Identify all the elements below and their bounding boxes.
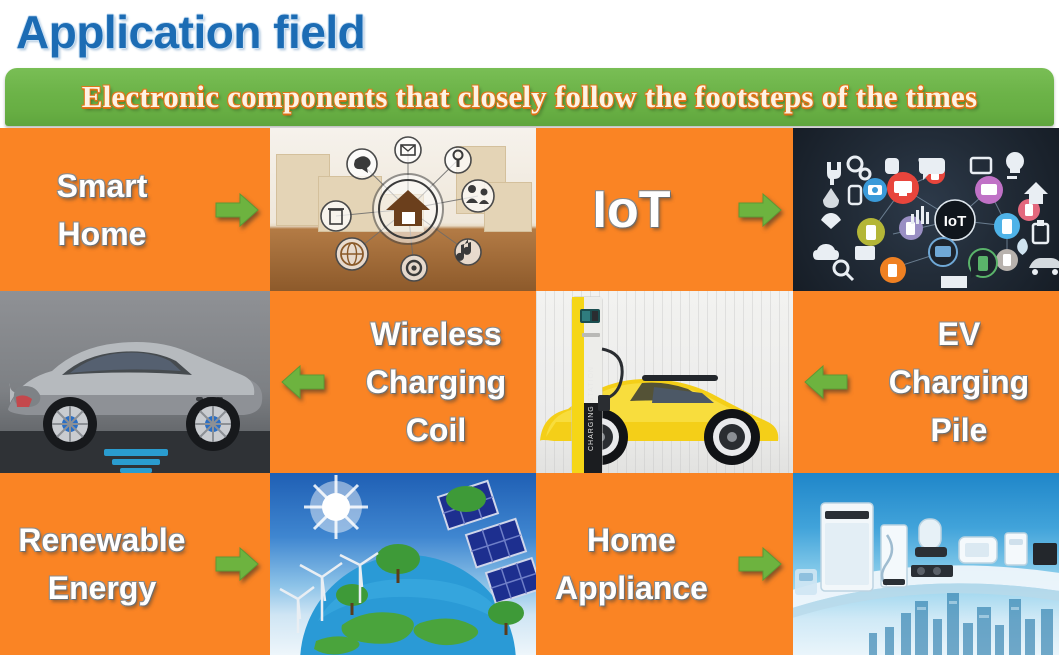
application-field-slide: Application field Electronic components …: [0, 0, 1059, 655]
image-silver-sports-car-photo: [0, 291, 270, 473]
cell-ev-charging-pile[interactable]: EV Charging Pile: [793, 291, 1059, 473]
image-solar-earth-photo: [270, 473, 536, 655]
arrow-right-icon: [737, 190, 783, 230]
ev-charging-pile-icon: CHARGING STATION: [536, 291, 793, 473]
cell-renewable-energy[interactable]: Renewable Energy: [0, 473, 270, 655]
image-iot-network-photo: IoT: [793, 128, 1059, 291]
tagline-banner: Electronic components that closely follo…: [5, 68, 1054, 126]
application-grid: Smart Home: [0, 128, 1059, 655]
arrow-right-icon: [214, 544, 260, 584]
smart-home-hub-icon: [318, 134, 498, 284]
arrow-left-icon: [280, 362, 326, 402]
silver-car-icon: [0, 291, 270, 473]
image-smart-home-hub-photo: [270, 128, 536, 291]
tagline-text: Electronic components that closely follo…: [82, 80, 978, 114]
label-smart-home: Smart Home: [0, 162, 204, 258]
arrow-right-icon: [737, 544, 783, 584]
image-ev-charging-station-photo: CHARGING STATION: [536, 291, 793, 473]
label-home-appliance: Home Appliance: [536, 516, 727, 612]
cell-home-appliance[interactable]: Home Appliance: [536, 473, 793, 655]
cell-wireless-charging-coil[interactable]: Wireless Charging Coil: [270, 291, 536, 473]
home-appliances-city-icon: [793, 473, 1059, 655]
page-title: Application field: [16, 2, 616, 64]
svg-text:IoT: IoT: [944, 213, 967, 230]
cell-smart-home[interactable]: Smart Home: [0, 128, 270, 291]
label-wireless-charging-coil: Wireless Charging Coil: [336, 310, 536, 454]
arrow-left-icon: [803, 362, 849, 402]
arrow-right-icon: [214, 190, 260, 230]
label-ev-charging-pile: EV Charging Pile: [859, 310, 1059, 454]
cell-iot[interactable]: IoT: [536, 128, 793, 291]
svg-text:CHARGING STATION: CHARGING STATION: [588, 366, 595, 451]
image-home-appliances-city-photo: [793, 473, 1059, 655]
label-renewable-energy: Renewable Energy: [0, 516, 204, 612]
iot-network-diagram-icon: IoT: [793, 128, 1059, 291]
solar-earth-icon: [270, 473, 536, 655]
label-iot: IoT: [536, 180, 727, 240]
